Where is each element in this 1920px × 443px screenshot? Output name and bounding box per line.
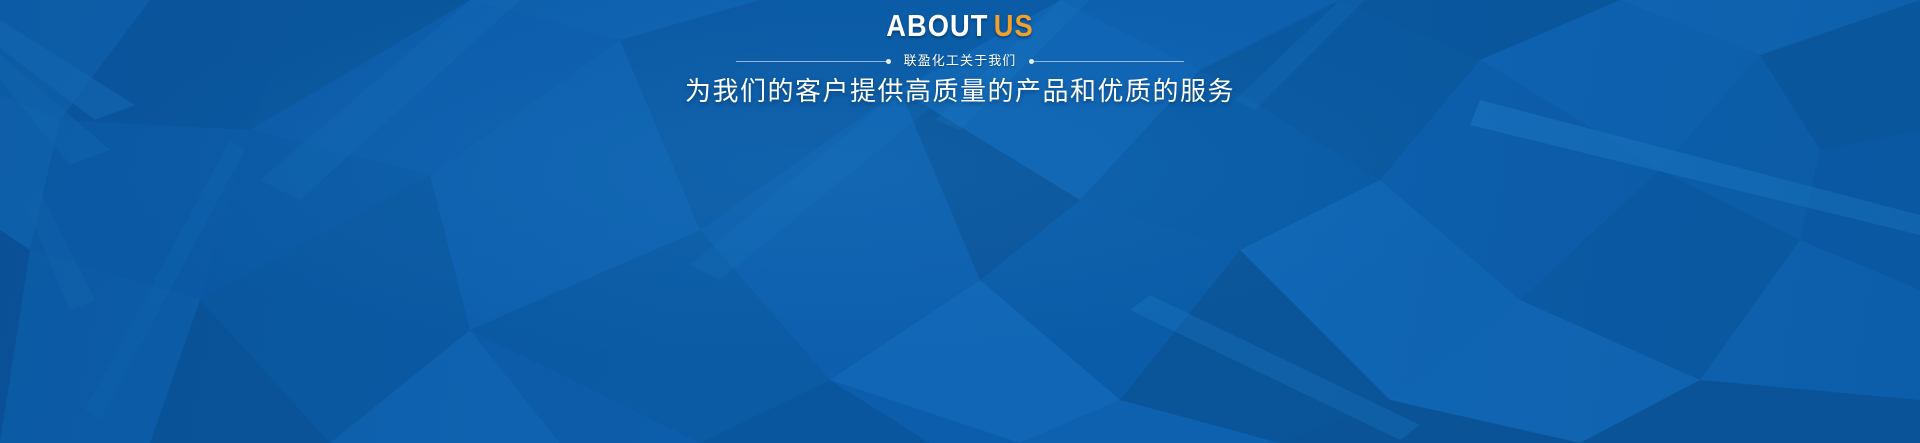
banner-content: ABOUTUS 联盈化工关于我们 为我们的客户提供高质量的产品和优质的服务 <box>0 8 1920 107</box>
title-word-accent: US <box>994 8 1034 43</box>
subtitle-chinese: 联盈化工关于我们 <box>891 53 1030 69</box>
divider-line-right <box>1034 61 1184 62</box>
divider-line-left <box>736 61 886 62</box>
about-us-banner: ABOUTUS 联盈化工关于我们 为我们的客户提供高质量的产品和优质的服务 <box>0 0 1920 443</box>
headline-chinese: 为我们的客户提供高质量的产品和优质的服务 <box>0 75 1920 107</box>
title-word-primary: ABOUT <box>886 8 988 43</box>
page-title-english: ABOUTUS <box>115 8 1805 44</box>
subtitle-divider-row: 联盈化工关于我们 <box>0 53 1920 69</box>
